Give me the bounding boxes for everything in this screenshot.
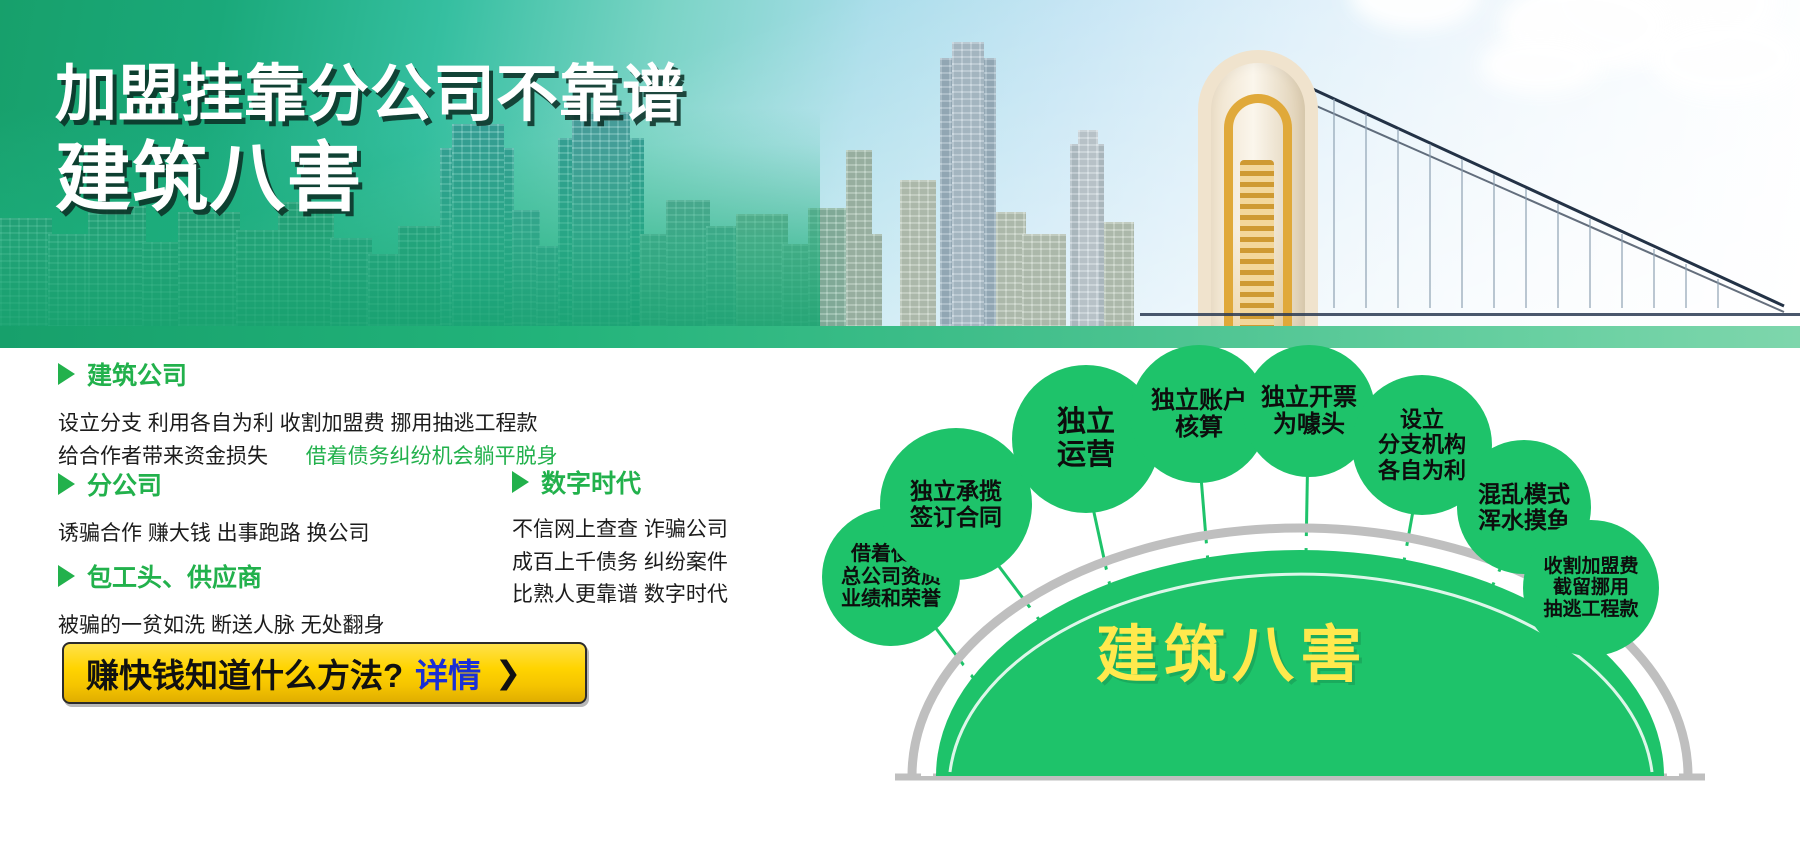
section-title: 建筑公司 — [87, 356, 187, 392]
section-title: 分公司 — [87, 466, 162, 502]
eight-harms-diagram: 借着使用 总公司资质 业绩和荣誉 独立承揽 签订合同 独立 运营 独立账户 核算 — [800, 340, 1800, 844]
bubble-harvest-franchise-fee[interactable]: 收割加盟费 截留挪用 抽逃工程款 — [1523, 520, 1659, 656]
headline-line-2: 建筑八害 — [55, 139, 685, 219]
bubble-text: 混乱模式 浑水摸鱼 — [1478, 481, 1570, 533]
section-body: 诱骗合作 赚大钱 出事跑路 换公司 — [58, 518, 370, 551]
body-line: 被骗的一贫如洗 断送人脉 无处翻身 — [58, 610, 385, 643]
banner-headline: 加盟挂靠分公司不靠谱 建筑八害 — [55, 62, 685, 219]
bubble-text: 独立 运营 — [1057, 406, 1115, 472]
triangle-bullet-icon — [58, 473, 75, 495]
section-heading: 数字时代 — [512, 464, 728, 500]
bridge-illustration — [1140, 40, 1800, 330]
body-text: 给合作者带来资金损失 — [58, 445, 268, 468]
body-line: 比熟人更靠谱 数字时代 — [512, 579, 728, 612]
section-heading: 建筑公司 — [58, 356, 558, 392]
section-contractor-supplier: 包工头、供应商 被骗的一贫如洗 断送人脉 无处翻身 — [58, 558, 385, 643]
section-body: 设立分支 利用各自为利 收割加盟费 挪用抽逃工程款 给合作者带来资金损失 借着债… — [58, 408, 558, 473]
poster-root: 加盟挂靠分公司不靠谱 建筑八害 建筑公司 设立分支 利用各自为利 收割加盟费 挪… — [0, 0, 1800, 844]
bubble-text: 独立账户 核算 — [1151, 387, 1247, 442]
cta-main-text: 赚快钱知道什么方法? — [86, 649, 403, 697]
triangle-bullet-icon — [58, 565, 75, 587]
headline-line-1: 加盟挂靠分公司不靠谱 — [55, 62, 685, 127]
bridge-cables — [1272, 68, 1792, 318]
section-branch-company: 分公司 诱骗合作 赚大钱 出事跑路 换公司 — [58, 466, 370, 551]
triangle-bullet-icon — [58, 363, 75, 385]
section-body: 不信网上查查 诈骗公司 成百上千债务 纠纷案件 比熟人更靠谱 数字时代 — [512, 514, 728, 612]
triangle-bullet-icon — [512, 471, 529, 493]
bridge-pylon-core — [1240, 160, 1274, 330]
section-body: 被骗的一贫如洗 断送人脉 无处翻身 — [58, 610, 385, 643]
body-line: 成百上千债务 纠纷案件 — [512, 547, 728, 580]
body-line: 不信网上查查 诈骗公司 — [512, 514, 728, 547]
bubble-independent-contracting[interactable]: 独立承揽 签订合同 — [880, 428, 1032, 580]
dome-title: 建筑八害 — [1096, 604, 1368, 694]
cta-link-text[interactable]: 详情 — [415, 649, 481, 697]
section-heading: 分公司 — [58, 466, 370, 502]
bubble-text: 设立 分支机构 各自为利 — [1378, 407, 1466, 482]
body-line: 诱骗合作 赚大钱 出事跑路 换公司 — [58, 518, 370, 551]
bubble-text: 独立开票 为噱头 — [1261, 384, 1357, 439]
section-heading: 包工头、供应商 — [58, 558, 385, 594]
bubble-text: 独立承揽 签订合同 — [910, 478, 1002, 530]
section-construction-company: 建筑公司 设立分支 利用各自为利 收割加盟费 挪用抽逃工程款 给合作者带来资金损… — [58, 356, 558, 473]
section-title: 包工头、供应商 — [87, 558, 262, 594]
left-content-panel: 建筑公司 设立分支 利用各自为利 收割加盟费 挪用抽逃工程款 给合作者带来资金损… — [0, 348, 800, 844]
chevron-right-icon: ❯ — [495, 655, 521, 691]
section-title: 数字时代 — [541, 464, 641, 500]
body-line: 设立分支 利用各自为利 收割加盟费 挪用抽逃工程款 — [58, 408, 558, 441]
cta-button[interactable]: 赚快钱知道什么方法? 详情 ❯ — [62, 642, 587, 704]
bubble-text: 收割加盟费 截留挪用 抽逃工程款 — [1543, 556, 1638, 621]
hero-banner: 加盟挂靠分公司不靠谱 建筑八害 — [0, 0, 1800, 348]
bridge-deck — [1140, 313, 1800, 316]
section-digital-era: 数字时代 不信网上查查 诈骗公司 成百上千债务 纠纷案件 比熟人更靠谱 数字时代 — [512, 464, 728, 612]
